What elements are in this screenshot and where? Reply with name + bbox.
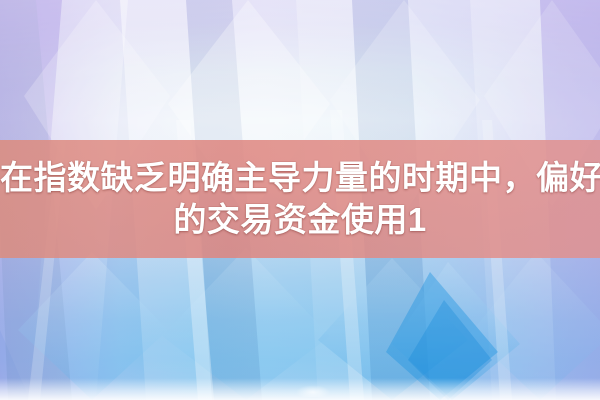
banner-image: 在指数缺乏明确主导力量的时期中，偏好事件驱动 的交易资金使用1 (0, 0, 600, 400)
bottom-watermark (296, 385, 330, 397)
caption-line-1: 在指数缺乏明确主导力量的时期中，偏好事件驱动 (0, 157, 600, 199)
caption-line-2: 的交易资金使用1 (173, 199, 426, 241)
top-sheen-overlay (0, 0, 600, 150)
caption-band: 在指数缺乏明确主导力量的时期中，偏好事件驱动 的交易资金使用1 (0, 140, 600, 258)
